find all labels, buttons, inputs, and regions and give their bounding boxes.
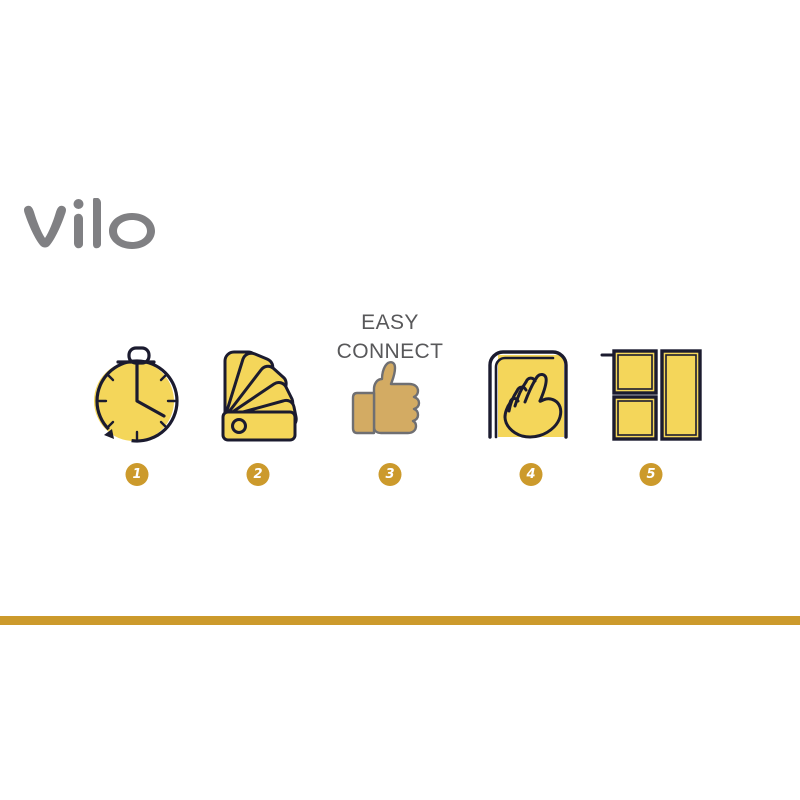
feature-item-4[interactable]: 4: [466, 300, 596, 500]
colour-swatch-fan-icon: [193, 335, 323, 445]
slide-canvas: 1 2: [0, 0, 800, 800]
feature-row: 1 2: [0, 300, 800, 500]
feature-badge-3: 3: [379, 463, 402, 486]
feature-badge-5: 5: [640, 463, 663, 486]
thumbs-up-icon: [325, 335, 455, 445]
feature-item-3[interactable]: EASY CONNECT 3: [325, 300, 455, 500]
panel-layout-icon: [586, 335, 716, 445]
stopwatch-icon: [72, 335, 202, 445]
feature-badge-1: 1: [126, 463, 149, 486]
gold-divider-bar: [0, 616, 800, 625]
feature-badge-4: 4: [520, 463, 543, 486]
feature-item-2[interactable]: 2: [193, 300, 323, 500]
feature-badge-2: 2: [247, 463, 270, 486]
hand-wiping-panel-icon: [466, 335, 596, 445]
feature-item-1[interactable]: 1: [72, 300, 202, 500]
vilo-logo: [22, 198, 202, 254]
feature-item-5[interactable]: 5: [586, 300, 716, 500]
